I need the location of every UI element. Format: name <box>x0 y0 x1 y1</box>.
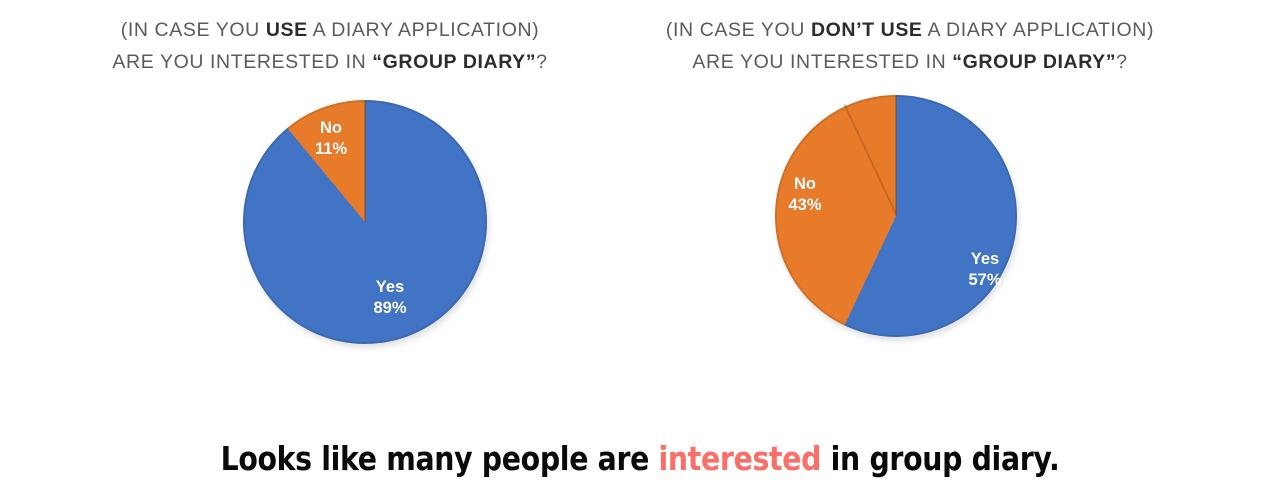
title-text-prefix: ARE YOU INTERESTED IN <box>112 51 372 73</box>
caption-highlight-interested: interested <box>659 439 822 478</box>
title-text-emphasis: “GROUP DIARY” <box>372 51 536 73</box>
pie-label-no-name: No <box>775 174 835 195</box>
pie-chart-panel-diary-users: (IN CASE YOU USE A DIARY APPLICATION) AR… <box>20 0 640 400</box>
chart-title-diary-users: (IN CASE YOU USE A DIARY APPLICATION) AR… <box>20 14 640 78</box>
caption-text-before: Looks like many people are <box>221 439 659 478</box>
title-text-suffix: A DIARY APPLICATION) <box>923 19 1155 41</box>
pie-label-no: No 11% <box>301 118 361 160</box>
title-text-emphasis: DON’T USE <box>811 19 923 41</box>
pie-label-no-value: 43% <box>775 195 835 216</box>
title-text-prefix: ARE YOU INTERESTED IN <box>692 51 952 73</box>
pie-label-yes: Yes 89% <box>360 277 420 319</box>
slide-canvas: (IN CASE YOU USE A DIARY APPLICATION) AR… <box>0 0 1280 497</box>
pie-label-yes-value: 89% <box>360 298 420 319</box>
chart-title-line-2: ARE YOU INTERESTED IN “GROUP DIARY”? <box>600 46 1220 78</box>
pie-label-no-name: No <box>301 118 361 139</box>
caption-text-after: in group diary. <box>821 439 1059 478</box>
pie-label-yes-name: Yes <box>955 249 1015 270</box>
title-text-suffix: ? <box>1116 51 1127 73</box>
pie-label-yes-value: 57% <box>955 270 1015 291</box>
pie-slice-separator <box>364 100 366 222</box>
pie-slice-separator-top <box>895 95 897 216</box>
title-text-suffix: A DIARY APPLICATION) <box>308 19 540 41</box>
chart-title-line-2: ARE YOU INTERESTED IN “GROUP DIARY”? <box>20 46 640 78</box>
title-text-prefix: (IN CASE YOU <box>666 19 811 41</box>
pie-graphic-diary-nonusers <box>775 95 1017 337</box>
pie-label-no-value: 11% <box>301 139 361 160</box>
title-text-suffix: ? <box>536 51 547 73</box>
title-text-prefix: (IN CASE YOU <box>121 19 266 41</box>
slide-caption: Looks like many people are interested in… <box>90 437 1191 481</box>
pie-label-yes: Yes 57% <box>955 249 1015 291</box>
title-text-emphasis: USE <box>266 19 308 41</box>
chart-title-diary-nonusers: (IN CASE YOU DON’T USE A DIARY APPLICATI… <box>600 14 1220 78</box>
chart-title-line-1: (IN CASE YOU USE A DIARY APPLICATION) <box>20 14 640 46</box>
title-text-emphasis: “GROUP DIARY” <box>952 51 1116 73</box>
pie-label-yes-name: Yes <box>360 277 420 298</box>
pie-label-no: No 43% <box>775 174 835 216</box>
chart-title-line-1: (IN CASE YOU DON’T USE A DIARY APPLICATI… <box>600 14 1220 46</box>
